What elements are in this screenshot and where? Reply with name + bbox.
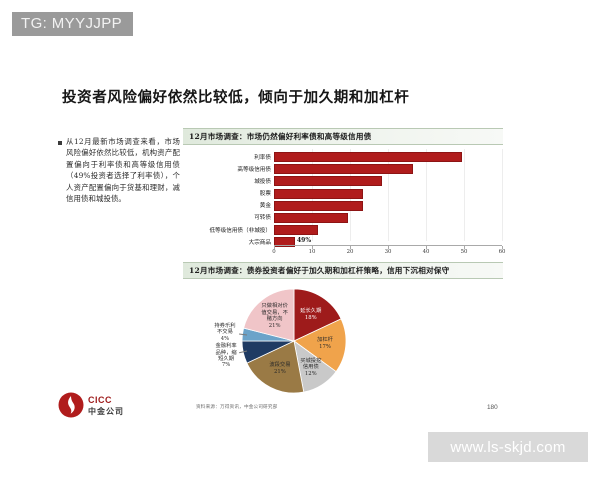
bar-category-label: 城投债 [183,177,274,185]
pie-slice-label: 买城投挖 信用债 12% [300,358,321,377]
bar-category-label: 黄金 [183,201,274,209]
bar-category-label: 利率债 [183,153,274,161]
bar-segment [274,201,363,211]
bar-track [274,200,502,211]
bar-category-label: 大宗商品 [183,238,274,246]
bar-segment [274,213,348,223]
bullet-square-icon [58,141,62,145]
x-axis-tick-label: 0 [272,249,275,255]
slide-canvas: TG: MYYJJPP 投资者风险偏好依然比较低，倾向于加久期和加杠杆 从12月… [0,0,600,480]
bar-track [274,188,502,199]
bar-chart-header: 12月市场调查：市场仍然偏好利率债和高等级信用债 [183,128,503,145]
bottom-watermark: www.ls-skjd.com [428,432,588,462]
bar-segment [274,164,413,174]
bar-chart-row: 低等级信用债（非城投） [183,224,503,235]
bar-segment [274,189,363,199]
bullet-item-label: 从12月最新市场调查来看，市场风险偏好依然比较低，机构资产配置偏向于利率债和高等… [66,136,180,204]
bar-chart-title: 12月市场调查：市场仍然偏好利率债和高等级信用债 [183,131,371,142]
bar-track [274,212,502,223]
bar-category-label: 低等级信用债（非城投） [183,226,274,234]
pie-chart-svg [219,281,369,406]
bar-value-label: 49% [297,237,311,244]
pie-slice-label: 持券乐利 不交易 4% [214,323,235,342]
bar-chart-row: 可转债 [183,212,503,223]
x-axis-tick-label: 50 [461,249,468,255]
bar-chart-row: 股票 [183,188,503,199]
bar-category-label: 可转债 [183,213,274,221]
list-item: 从12月最新市场调查来看，市场风险偏好依然比较低，机构资产配置偏向于利率债和高等… [58,136,180,204]
cicc-logo-en: CICC [88,396,124,405]
pie-slice-label: 只做相对价 值交易，不 赌方向 21% [261,303,288,329]
x-axis-tick-label: 20 [347,249,354,255]
pie-slice-label: 金融利率 品种，缩 短久期 7% [215,343,236,369]
cicc-logo: CICC 中金公司 [58,392,124,418]
pie-slice-label: 波段交易 21% [269,362,290,375]
pie-slice-label: 加杠杆 17% [317,337,333,350]
bar-track [274,224,502,235]
bar-chart-plot: 利率债高等级信用债城投债股票黄金可转债低等级信用债（非城投）大宗商品49% 01… [183,145,503,257]
bar-chart-x-axis: 0102030405060 [274,245,502,258]
bar-chart-row: 利率债 [183,151,503,162]
bullet-list: 从12月最新市场调查来看，市场风险偏好依然比较低，机构资产配置偏向于利率债和高等… [58,136,180,204]
bar-track [274,163,502,174]
bar-chart-series: 利率债高等级信用债城投债股票黄金可转债低等级信用债（非城投）大宗商品49% [183,151,503,249]
bar-category-label: 高等级信用债 [183,165,274,173]
bar-chart-panel: 12月市场调查：市场仍然偏好利率债和高等级信用债 利率债高等级信用债城投债股票黄… [183,128,503,258]
x-axis-tick-label: 60 [499,249,506,255]
bar-segment [274,176,382,186]
pie-chart-title: 12月市场调查：债券投资者偏好于加久期和加杠杆策略，信用下沉相对保守 [183,265,449,276]
bar-track [274,151,502,162]
bar-category-label: 股票 [183,189,274,197]
source-note: 资料来源：万得资讯，中金公司研究部 [196,404,278,410]
x-axis-tick-label: 40 [423,249,430,255]
page-number: 180 [487,404,498,411]
pie-slice-label: 延长久期 18% [300,308,321,321]
x-axis-tick-label: 30 [385,249,392,255]
cicc-logo-mark-icon [58,392,84,418]
bar-segment [274,152,462,162]
cicc-logo-cn: 中金公司 [88,407,124,415]
page-title: 投资者风险偏好依然比较低，倾向于加久期和加杠杆 [62,86,409,107]
pie-chart-panel: 12月市场调查：债券投资者偏好于加久期和加杠杆策略，信用下沉相对保守 延长久期 … [183,262,503,412]
bar-chart-row: 城投债 [183,175,503,186]
pie-chart-header: 12月市场调查：债券投资者偏好于加久期和加杠杆策略，信用下沉相对保守 [183,262,503,279]
cicc-logo-text: CICC 中金公司 [88,396,124,415]
bar-chart-row: 高等级信用债 [183,163,503,174]
bar-track [274,175,502,186]
top-watermark: TG: MYYJJPP [12,12,133,36]
x-axis-tick-label: 10 [309,249,316,255]
bar-chart-row: 黄金 [183,200,503,211]
pie-chart-plot: 延长久期 18%加杠杆 17%买城投挖 信用债 12%波段交易 21%金融利率 … [183,279,503,412]
bar-segment [274,225,318,235]
